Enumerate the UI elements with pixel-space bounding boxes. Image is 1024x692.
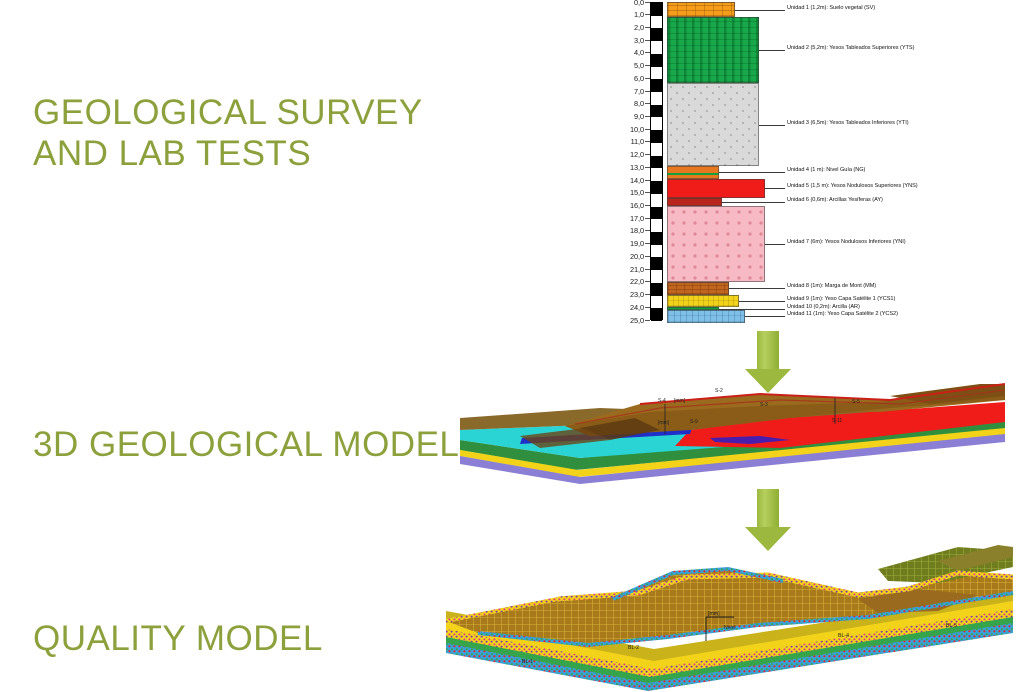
depth-tick: 3,0 — [634, 37, 644, 44]
unit-label-3: Unidad 3 (6,5m): Yesos Tableados Inferio… — [787, 120, 909, 126]
unit-label-6: Unidad 6 (0,6m): Arcillas Yesíferas (AY) — [787, 197, 883, 203]
stage-title-3d-geological-model: 3D GEOLOGICAL MODEL — [33, 424, 459, 465]
unit-leader-line-2 — [759, 50, 785, 51]
unit-label-11: Unidad 11 (1m): Yeso Capa Satélite 2 (YC… — [787, 311, 898, 317]
depth-tick: 9,0 — [634, 113, 644, 120]
ruler-segment — [651, 207, 662, 220]
lithology-layer-8 — [667, 282, 729, 295]
depth-tick: 6,0 — [634, 75, 644, 82]
ruler-segment — [651, 156, 662, 169]
svg-text:S-4: S-4 — [658, 398, 666, 404]
depth-tick: 7,0 — [634, 88, 644, 95]
stage-title-geological-survey: GEOLOGICAL SURVEY AND LAB TESTS — [33, 92, 423, 175]
unit-leader-line-7 — [765, 244, 785, 245]
unit-label-8: Unidad 8 (1m): Marga de Mont (MM) — [787, 283, 876, 289]
stage-title-quality-model: QUALITY MODEL — [33, 618, 323, 659]
ruler-segment — [651, 308, 662, 321]
ruler-segment — [651, 54, 662, 67]
depth-tick: 15,0 — [630, 189, 644, 196]
ruler-segment — [651, 181, 662, 194]
depth-tick: 4,0 — [634, 49, 644, 56]
depth-ruler-bar — [650, 2, 663, 320]
depth-tick: 25,0 — [630, 317, 644, 324]
unit-label-2: Unidad 2 (5,2m): Yesos Tableados Superio… — [787, 45, 914, 51]
svg-text:S-3: S-3 — [760, 402, 768, 408]
3d-geological-model-image: S-4 [mm] S-2 S-3 S-9 [mm] S-5 S-11 — [460, 378, 1005, 488]
unit-leader-line-4 — [719, 172, 785, 173]
unit-leader-line-6 — [722, 202, 785, 203]
lithology-layer-3 — [667, 83, 759, 166]
svg-text:S-11: S-11 — [832, 418, 842, 424]
lithology-layer-6 — [667, 198, 722, 206]
ruler-segment — [651, 257, 662, 270]
unit-label-10: Unidad 10 (0,2m): Arcilla (AR) — [787, 304, 860, 310]
depth-tick: 19,0 — [630, 240, 644, 247]
lithology-layer-5 — [667, 179, 765, 198]
svg-text:S-5: S-5 — [852, 399, 860, 405]
depth-tick: 22,0 — [630, 278, 644, 285]
depth-tick: 0,0 — [634, 0, 644, 6]
unit-label-7: Unidad 7 (6m): Yesos Nodulosos Inferiore… — [787, 239, 906, 245]
depth-tick: 18,0 — [630, 227, 644, 234]
ruler-segment — [651, 283, 662, 296]
depth-tick: 20,0 — [630, 253, 644, 260]
depth-tick: 16,0 — [630, 202, 644, 209]
svg-text:[mm]: [mm] — [674, 398, 686, 404]
depth-tick: 1,0 — [634, 11, 644, 18]
ruler-segment — [651, 232, 662, 245]
ruler-segment — [651, 130, 662, 143]
unit-leader-line-9 — [739, 301, 785, 302]
unit-leader-line-8 — [729, 288, 785, 289]
depth-tick: 5,0 — [634, 62, 644, 69]
3d-geological-model-render: S-4 [mm] S-2 S-3 S-9 [mm] S-5 S-11 — [460, 378, 1005, 488]
depth-tick: 23,0 — [630, 291, 644, 298]
svg-text:BL-1: BL-1 — [522, 659, 533, 665]
depth-axis: 0,01,02,03,04,05,06,07,08,09,010,011,012… — [612, 0, 650, 322]
lithology-layer-4 — [667, 166, 719, 179]
depth-tick: 14,0 — [630, 177, 644, 184]
unit-leader-line-11 — [745, 316, 785, 317]
ruler-segment — [651, 28, 662, 41]
lithology-layer-2 — [667, 17, 759, 83]
arrow-shaft — [757, 331, 779, 371]
unit-label-9: Unidad 9 (1m): Yeso Capa Satélite 1 (YCS… — [787, 296, 895, 302]
arrow-shaft — [757, 489, 779, 529]
svg-text:BL-5: BL-5 — [946, 623, 957, 629]
unit-label-1: Unidad 1 (1,2m): Suelo vegetal (SV) — [787, 5, 875, 11]
depth-tick: 24,0 — [630, 304, 644, 311]
quality-model-image: [mm] Nivel BL-2 BL-4 BL-5 BL-1 — [438, 533, 1018, 691]
ruler-segment — [651, 105, 662, 118]
svg-text:Nivel: Nivel — [724, 625, 736, 631]
svg-text:BL-4: BL-4 — [838, 633, 849, 639]
svg-text:S-2: S-2 — [715, 388, 723, 394]
lithology-layer-7 — [667, 206, 765, 282]
lithology-layer-9 — [667, 295, 739, 308]
svg-text:BL-2: BL-2 — [628, 645, 639, 651]
unit-leader-line-3 — [759, 125, 785, 126]
depth-tick: 11,0 — [631, 138, 644, 145]
depth-tick: 2,0 — [634, 24, 644, 31]
depth-tick: 12,0 — [630, 151, 644, 158]
svg-text:S-9: S-9 — [690, 419, 698, 425]
ruler-segment — [651, 3, 662, 16]
depth-tick: 8,0 — [634, 100, 644, 107]
stratigraphic-log: 0,01,02,03,04,05,06,07,08,09,010,011,012… — [612, 0, 912, 330]
ruler-segment — [651, 79, 662, 92]
lithology-layer-1 — [667, 2, 735, 17]
svg-text:[mm]: [mm] — [708, 611, 720, 617]
quality-model-render: [mm] Nivel BL-2 BL-4 BL-5 BL-1 — [438, 533, 1018, 691]
depth-tick: 13,0 — [630, 164, 644, 171]
unit-label-4: Unidad 4 (1 m): Nivel Guía (NG) — [787, 167, 865, 173]
depth-tick: 21,0 — [630, 266, 644, 273]
lithology-layer-11 — [667, 310, 745, 323]
unit-label-5: Unidad 5 (1,5 m): Yesos Nodulosos Superi… — [787, 183, 918, 189]
depth-tick: 17,0 — [630, 215, 644, 222]
svg-text:[mm]: [mm] — [658, 420, 670, 426]
unit-leader-line-5 — [765, 188, 785, 189]
depth-tick: 10,0 — [630, 126, 644, 133]
unit-leader-line-1 — [735, 10, 785, 11]
